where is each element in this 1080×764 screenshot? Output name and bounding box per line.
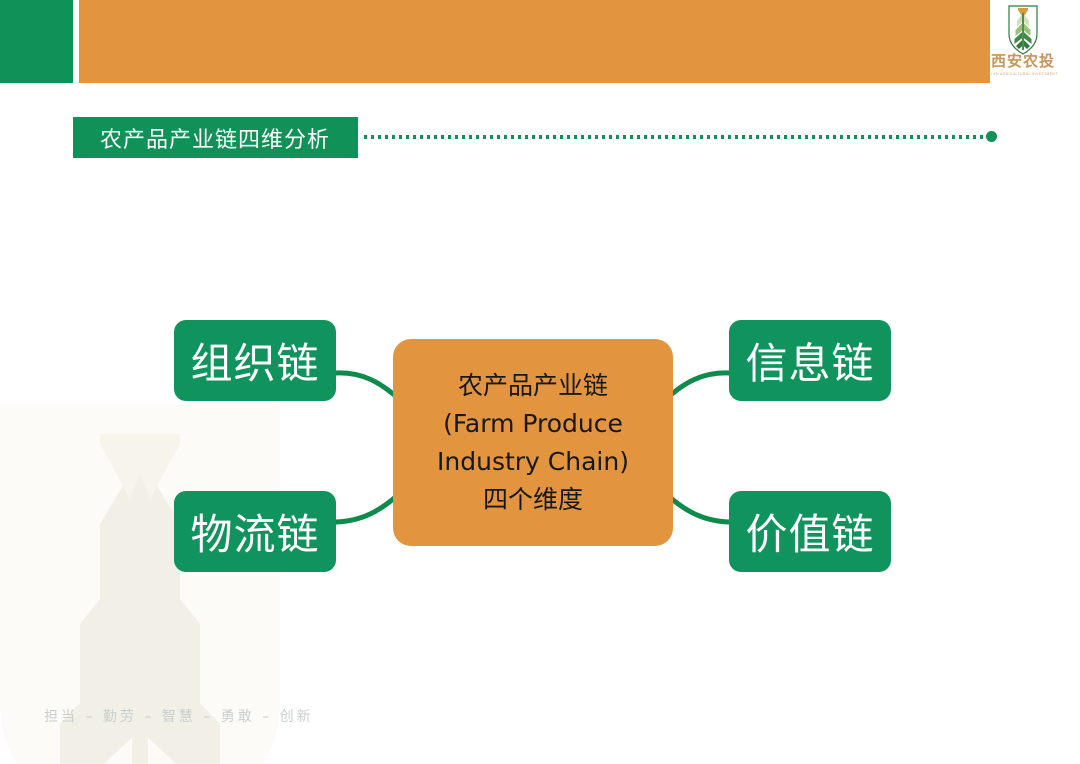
connector-information-to-center (666, 373, 729, 399)
node-organization-chain-label: 组织链 (190, 330, 319, 391)
center-line-en-1: (Farm Produce (437, 405, 629, 443)
logo-name-en: XI'AN AGRICULTURAL INVESTMENT (984, 72, 1062, 76)
header-orange-band (79, 0, 990, 83)
logo-name-cn: 西安农投 (984, 54, 1062, 70)
connector-logistics-to-center (336, 494, 399, 522)
section-title-text: 农产品产业链四维分析 (100, 122, 330, 154)
node-organization-chain[interactable]: 组织链 (174, 320, 336, 401)
center-line-cn-bottom: 四个维度 (437, 481, 629, 519)
section-title-tab: 农产品产业链四维分析 (73, 117, 358, 158)
slide-canvas: 西安农投 XI'AN AGRICULTURAL INVESTMENT 农产品产业… (0, 0, 1080, 764)
center-line-cn-top: 农产品产业链 (437, 367, 629, 405)
section-title-dotted-rule (364, 135, 987, 139)
connector-value-to-center (666, 494, 729, 522)
node-information-chain[interactable]: 信息链 (729, 320, 891, 401)
footer-slogan: 担当 – 勤劳 – 智慧 – 勇敢 – 创新 (44, 706, 314, 726)
node-logistics-chain[interactable]: 物流链 (174, 491, 336, 572)
company-logo: 西安农投 XI'AN AGRICULTURAL INVESTMENT (984, 4, 1062, 86)
wheat-shield-icon (984, 4, 1062, 56)
node-value-chain[interactable]: 价值链 (729, 491, 891, 572)
node-center-farm-produce-industry-chain[interactable]: 农产品产业链 (Farm Produce Industry Chain) 四个维… (393, 339, 673, 546)
center-line-en-2: Industry Chain) (437, 443, 629, 481)
node-information-chain-label: 信息链 (745, 330, 874, 391)
node-value-chain-label: 价值链 (745, 501, 874, 562)
section-title-end-dot (986, 131, 997, 142)
connector-organization-to-center (336, 373, 399, 399)
node-logistics-chain-label: 物流链 (190, 501, 319, 562)
header-green-block (0, 0, 73, 83)
center-text-block: 农产品产业链 (Farm Produce Industry Chain) 四个维… (437, 367, 629, 519)
